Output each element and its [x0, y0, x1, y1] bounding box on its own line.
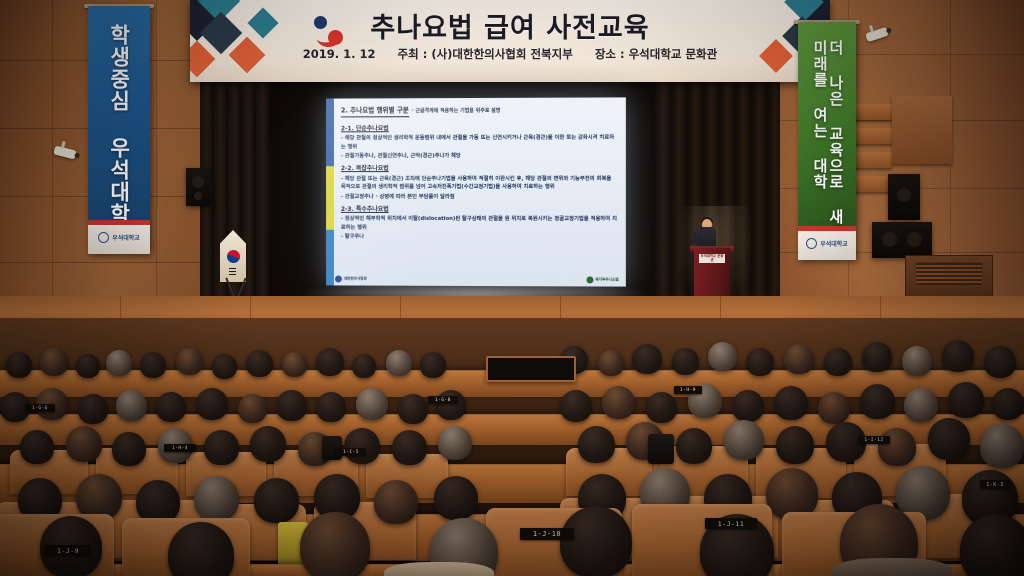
seat-number-plate: 1-K-3 [980, 480, 1010, 489]
slide-side-stripe [326, 99, 334, 286]
seat-number-plate: 1-J-10 [520, 528, 574, 540]
left-banner-text: 학생중심 우석대학교 [108, 24, 130, 247]
banner-host: 주최 : (사)대한한의사협회 전북지부 [398, 47, 573, 61]
wall-speaker-right-lower [872, 222, 932, 258]
seat-number-plate: 1-H-9 [674, 386, 702, 394]
hall-wall-plaque [486, 356, 576, 382]
projection-screen: 2. 추나요법 행위별 구분· 근골격계에 적용하는 기법을 위주로 설명 2-… [326, 97, 626, 286]
auditorium-photo: 추나요법 급여 사전교육 2019. 1. 12 주최 : (사)대한한의사협회… [0, 0, 1024, 576]
audience-seating-area [0, 318, 1024, 576]
seat-number-plate: 1-G-6 [25, 404, 55, 412]
presentation-slide: 2. 추나요법 행위별 구분· 근골격계에 적용하는 기법을 위주로 설명 2-… [326, 97, 626, 286]
slide-footer-logo-left: 대한한의사협회 [335, 275, 367, 282]
slide-line: - 관절가동추나, 관절신연추나, 근막(경근)추나가 해당 [341, 152, 618, 161]
seat-number-plate: 1-J-11 [705, 518, 757, 529]
right-banner-footer: 우석대학교 [798, 226, 856, 260]
slide-line: - 관절교정추나 · 상병에 따라 본인 부담률이 달라짐 [341, 193, 618, 201]
left-banner-footer: 우석대학교 [88, 220, 150, 254]
student-centered-banner: 학생중심 우석대학교 우석대학교 [88, 6, 150, 254]
wall-speaker-left [186, 168, 210, 206]
slide-section-title-1: 2-1. 단순추나요법 [341, 123, 618, 133]
seat-number-plate: 1-I-5 [336, 448, 366, 456]
banner-title: 추나요법 급여 사전교육 [190, 6, 830, 45]
better-education-banner: 더 나은 교육으로 새로운 미래를 여는 대학 우석대학교 [798, 22, 856, 260]
banner-date: 2019. 1. 12 [303, 47, 376, 61]
audience-bag [648, 434, 674, 464]
university-mark-icon [806, 238, 817, 249]
slide-line: - 탈구추나 [341, 233, 618, 242]
slide-line: - 해당 관절 또는 근육(경근) 조직에 단순추나기법을 사용하여 적절히 이… [341, 175, 618, 192]
slide-line: - 정상적인 해부학적 위치에서 이탈(dislocation)된 탈구상태의 … [341, 215, 618, 232]
lectern-plate: 우석대학교 문화관 [699, 254, 725, 263]
wall-speaker-right-upper [888, 174, 920, 220]
event-banner: 추나요법 급여 사전교육 2019. 1. 12 주최 : (사)대한한의사협회… [190, 0, 830, 82]
slide-heading-note: · 근골격계에 적용하는 기법을 위주로 설명 [412, 108, 501, 114]
taeguk-symbol [227, 250, 240, 263]
slide-line: - 해당 관절의 정상적인 생리학적 운동범위 내에서 관절을 가동 또는 신연… [341, 134, 618, 151]
banner-place: 장소 : 우석대학교 문화관 [595, 47, 717, 61]
wall-air-vent [915, 262, 983, 286]
banner-subtitle: 2019. 1. 12 주최 : (사)대한한의사협회 전북지부 장소 : 우석… [190, 46, 830, 62]
slide-heading: 2. 추나요법 행위별 구분 [341, 105, 409, 117]
slide-section-title-3: 2-3. 특수추나요법 [341, 205, 618, 215]
university-mark-icon [98, 232, 109, 243]
seat-number-plate: 1-J-9 [45, 545, 91, 556]
seat-number-plate: 1-G-8 [428, 396, 458, 404]
slide-section-title-2: 2-2. 복잡추나요법 [341, 164, 618, 174]
seat-number-plate: 1-H-4 [164, 444, 196, 452]
seat-number-plate: 1-I-12 [858, 436, 890, 444]
